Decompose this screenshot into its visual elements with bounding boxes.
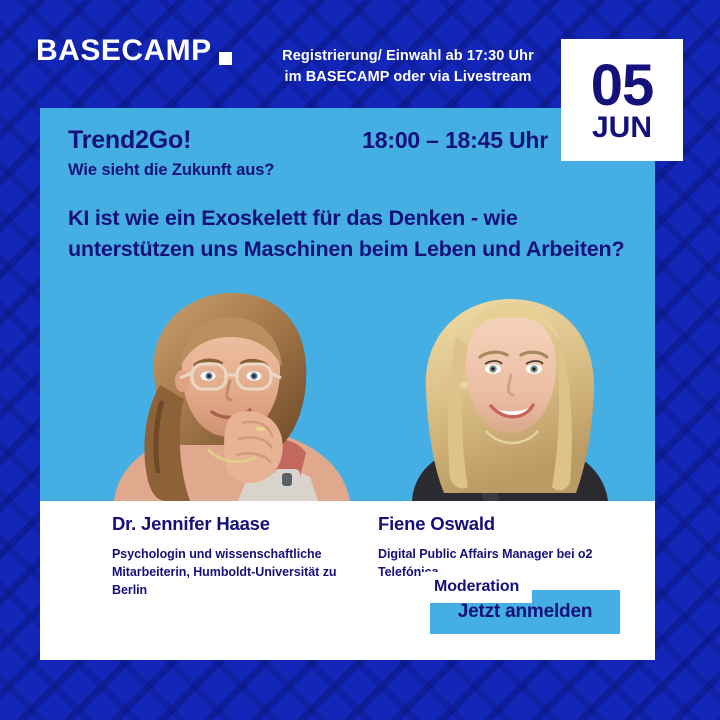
- date-month: JUN: [592, 114, 652, 142]
- speaker-role: Psychologin und wissenschaftliche Mitarb…: [112, 545, 342, 599]
- event-headline: KI ist wie ein Exoskelett für das Denken…: [68, 203, 628, 264]
- speakers-section: Dr. Jennifer Haase Psychologin und wisse…: [40, 501, 655, 660]
- speaker-photo-jennifer-haase: [96, 281, 366, 501]
- speaker-photo-fiene-oswald: [392, 281, 627, 501]
- series-subtitle: Wie sieht die Zukunft aus?: [68, 161, 568, 180]
- registration-line-2: im BASECAMP oder via Livestream: [258, 67, 558, 88]
- event-time: 18:00 – 18:45 Uhr: [362, 127, 548, 154]
- logo-wordmark: BASECAMP: [36, 36, 212, 66]
- registration-info: Registrierung/ Einwahl ab 17:30 Uhr im B…: [258, 46, 558, 88]
- registration-line-1: Registrierung/ Einwahl ab 17:30 Uhr: [258, 46, 558, 67]
- event-blue-panel: Trend2Go! 18:00 – 18:45 Uhr Wie sieht di…: [40, 108, 655, 501]
- series-name: Trend2Go!: [68, 126, 191, 155]
- date-day: 05: [591, 59, 654, 112]
- date-badge: 05 JUN: [561, 39, 683, 161]
- event-card: Trend2Go! 18:00 – 18:45 Uhr Wie sieht di…: [40, 108, 655, 660]
- event-poster: BASECAMP Registrierung/ Einwahl ab 17:30…: [0, 0, 720, 720]
- logo-square-dot-icon: [219, 52, 232, 65]
- speaker-name: Dr. Jennifer Haase: [112, 513, 342, 535]
- speaker-entry: Fiene Oswald Digital Public Affairs Mana…: [378, 513, 608, 581]
- series-row: Trend2Go! 18:00 – 18:45 Uhr: [68, 126, 548, 155]
- basecamp-logo: BASECAMP: [36, 36, 232, 66]
- moderation-badge: Moderation: [421, 572, 532, 603]
- event-title-block: Trend2Go! 18:00 – 18:45 Uhr Wie sieht di…: [68, 126, 568, 180]
- speaker-entry: Dr. Jennifer Haase Psychologin und wisse…: [112, 513, 342, 599]
- speaker-name: Fiene Oswald: [378, 513, 608, 535]
